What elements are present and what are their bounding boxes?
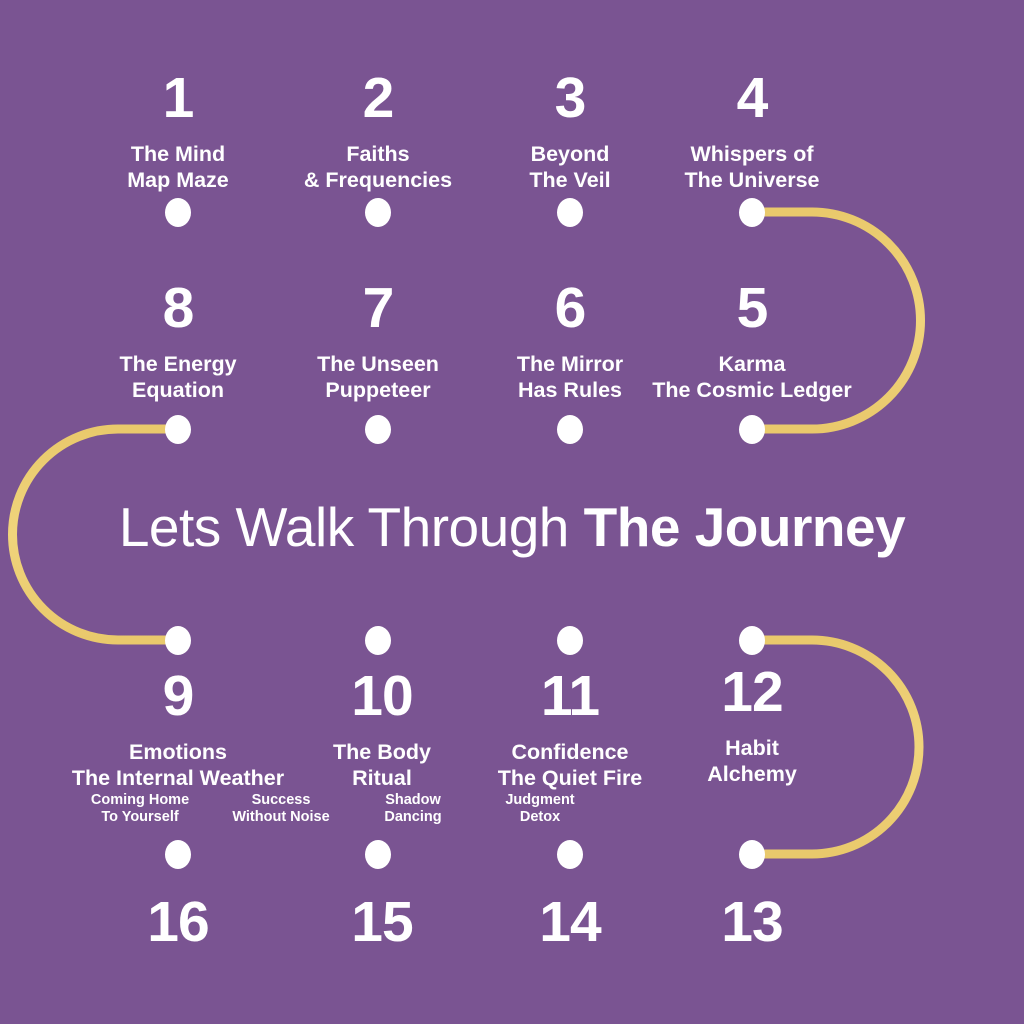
step-2-title-line2: & Frequencies	[304, 168, 452, 192]
journey-headline: Lets Walk Through The Journey	[0, 495, 1024, 559]
step-4-number: 4	[622, 70, 882, 127]
step-12-title: Habit Alchemy	[622, 735, 882, 787]
node-dot-3[interactable]	[557, 198, 583, 227]
step-sub-12-line2: Detox	[520, 809, 560, 825]
step-6-title-line1: The Mirror	[517, 352, 623, 376]
step-sub-12: Judgment Detox	[448, 792, 632, 826]
node-dot-12[interactable]	[739, 626, 765, 655]
step-8-title-line2: Equation	[132, 378, 224, 402]
step-5-title-line2: The Cosmic Ledger	[652, 378, 852, 402]
step-6-title-line2: Has Rules	[518, 378, 622, 402]
node-dot-7[interactable]	[365, 415, 391, 444]
step-10-title-line2: Ritual	[352, 766, 412, 790]
step-3-title-line2: The Veil	[529, 168, 610, 192]
node-dot-10[interactable]	[365, 626, 391, 655]
step-7-title-line1: The Unseen	[317, 352, 439, 376]
step-13-number[interactable]: 13	[622, 894, 882, 951]
node-dot-11[interactable]	[557, 626, 583, 655]
step-7-title-line2: Puppeteer	[325, 378, 430, 402]
step-12[interactable]: 12 Habit Alchemy	[622, 664, 882, 787]
node-dot-13[interactable]	[739, 840, 765, 869]
node-dot-5[interactable]	[739, 415, 765, 444]
step-11-title-line2: The Quiet Fire	[498, 766, 643, 790]
node-dot-2[interactable]	[365, 198, 391, 227]
step-5[interactable]: 5 Karma The Cosmic Ledger	[622, 280, 882, 403]
step-sub-12-line1: Judgment	[505, 792, 574, 808]
step-sub-10-line2: Without Noise	[232, 809, 329, 825]
step-5-number: 5	[622, 280, 882, 337]
headline-bold-text: The Journey	[584, 496, 906, 558]
step-9-title-line1: Emotions	[129, 740, 227, 764]
node-dot-16[interactable]	[165, 840, 191, 869]
step-5-title: Karma The Cosmic Ledger	[622, 351, 882, 403]
step-4-title: Whispers of The Universe	[622, 141, 882, 193]
step-1-title-line2: Map Maze	[127, 168, 229, 192]
step-12-title-line1: Habit	[725, 736, 779, 760]
node-dot-15[interactable]	[365, 840, 391, 869]
headline-light-text: Lets Walk Through	[119, 496, 584, 558]
step-2-title-line1: Faiths	[346, 142, 409, 166]
node-dot-1[interactable]	[165, 198, 191, 227]
step-12-title-line2: Alchemy	[707, 762, 797, 786]
step-4-title-line1: Whispers of	[690, 142, 813, 166]
node-dot-14[interactable]	[557, 840, 583, 869]
step-10-title-line1: The Body	[333, 740, 431, 764]
step-12-number: 12	[622, 664, 882, 721]
step-3-title-line1: Beyond	[531, 142, 610, 166]
step-sub-11-line2: Dancing	[384, 809, 441, 825]
journey-infographic: 1 The Mind Map Maze 2 Faiths & Frequenci…	[0, 0, 1024, 1024]
step-4[interactable]: 4 Whispers of The Universe	[622, 70, 882, 193]
step-sub-11-line1: Shadow	[385, 792, 441, 808]
step-4-title-line2: The Universe	[684, 168, 819, 192]
node-dot-6[interactable]	[557, 415, 583, 444]
step-1-title-line1: The Mind	[131, 142, 225, 166]
node-dot-8[interactable]	[165, 415, 191, 444]
step-5-title-line1: Karma	[719, 352, 786, 376]
step-11-title-line1: Confidence	[511, 740, 628, 764]
step-8-title-line1: The Energy	[119, 352, 236, 376]
step-sub-10-line1: Success	[252, 792, 311, 808]
node-dot-9[interactable]	[165, 626, 191, 655]
node-dot-4[interactable]	[739, 198, 765, 227]
